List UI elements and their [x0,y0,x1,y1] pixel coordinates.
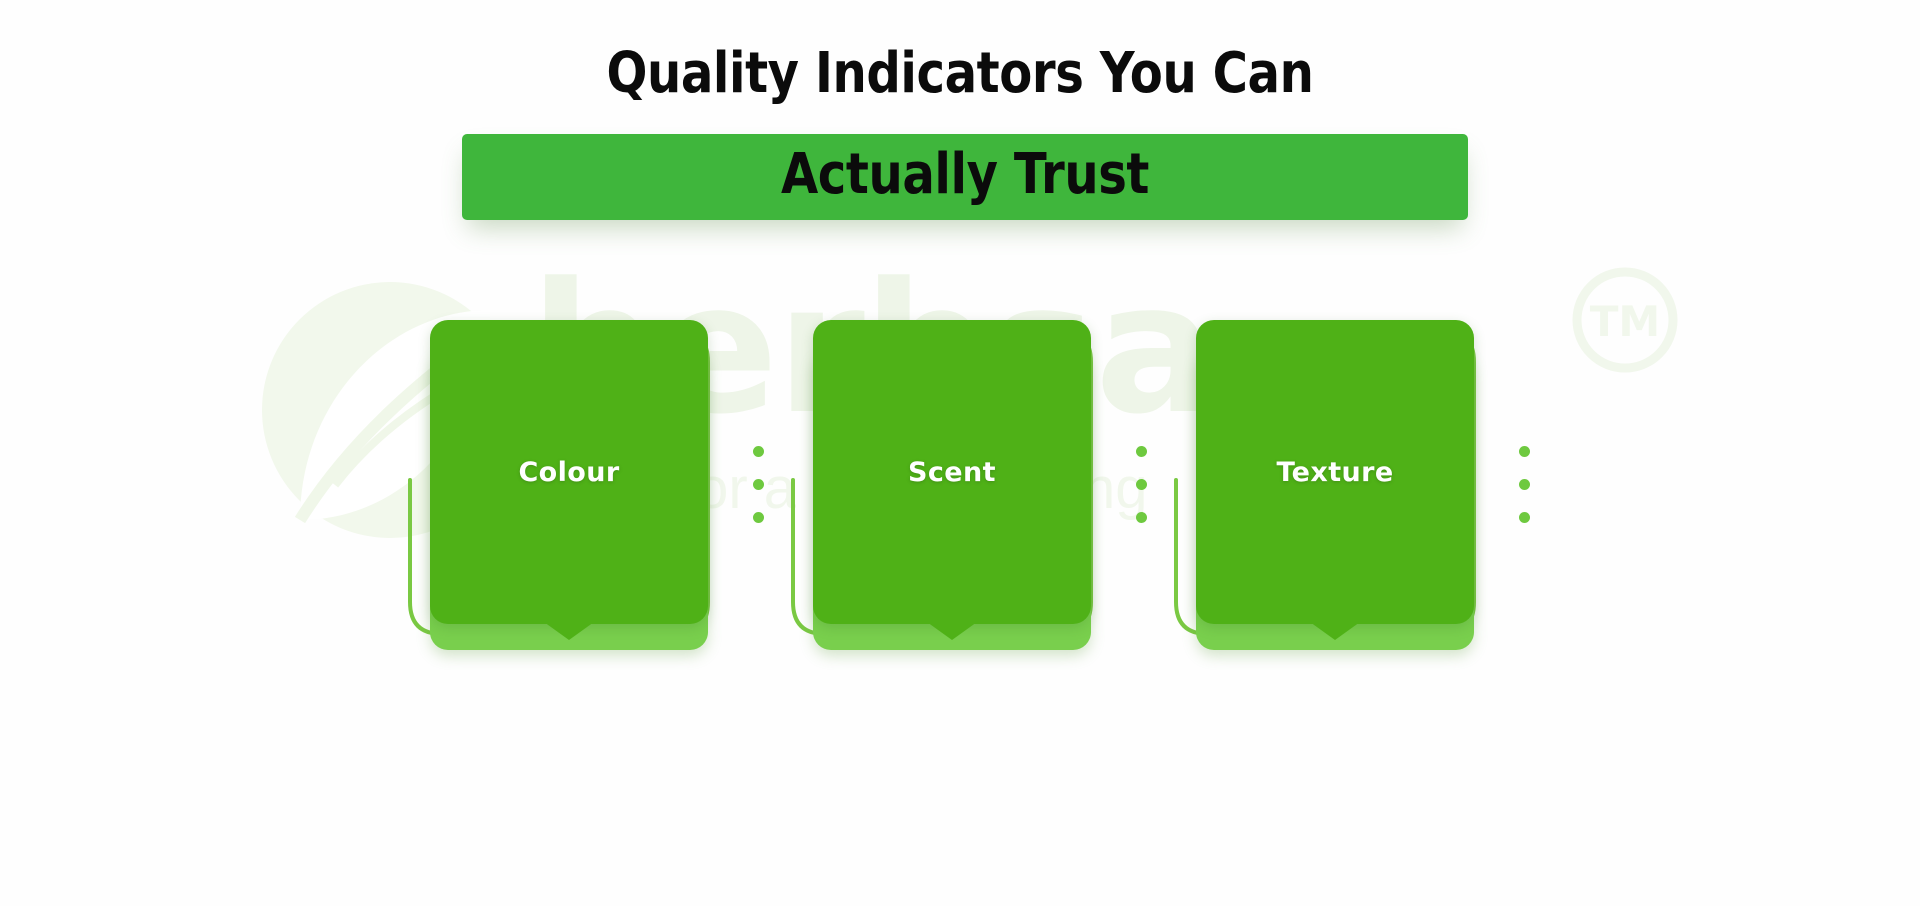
dot-icon [1519,446,1530,457]
dot-icon [753,479,764,490]
dot-icon [1519,512,1530,523]
card-dots-group [1519,446,1530,523]
svg-text:TM: TM [1590,297,1660,346]
heading-banner: Actually Trust [462,134,1468,220]
indicator-card-colour[interactable]: Colour [400,310,740,710]
heading-line-1: Quality Indicators You Can [134,0,1785,102]
indicator-card-scent[interactable]: Scent [783,310,1123,710]
dot-icon [753,446,764,457]
indicator-cards-row: Colour Scent [400,310,1520,710]
dot-icon [1136,512,1147,523]
trademark-icon: TM [1560,260,1690,390]
dot-icon [1136,446,1147,457]
indicator-card-texture[interactable]: Texture [1166,310,1506,710]
card-notch-icon [544,622,594,640]
card-notch-icon [1310,622,1360,640]
card-label: Scent [813,320,1091,624]
card-surface[interactable]: Texture [1196,320,1474,624]
dot-icon [753,512,764,523]
card-surface[interactable]: Scent [813,320,1091,624]
card-dots-group [753,446,764,523]
heading-line-2: Actually Trust [781,147,1149,203]
card-dots-group [1136,446,1147,523]
infographic-canvas: herbsa for a healthy living TM Quality I… [0,0,1920,906]
card-surface[interactable]: Colour [430,320,708,624]
card-label: Texture [1196,320,1474,624]
card-notch-icon [927,622,977,640]
dot-icon [1519,479,1530,490]
card-label: Colour [430,320,708,624]
heading-block: Quality Indicators You Can [0,0,1920,102]
dot-icon [1136,479,1147,490]
